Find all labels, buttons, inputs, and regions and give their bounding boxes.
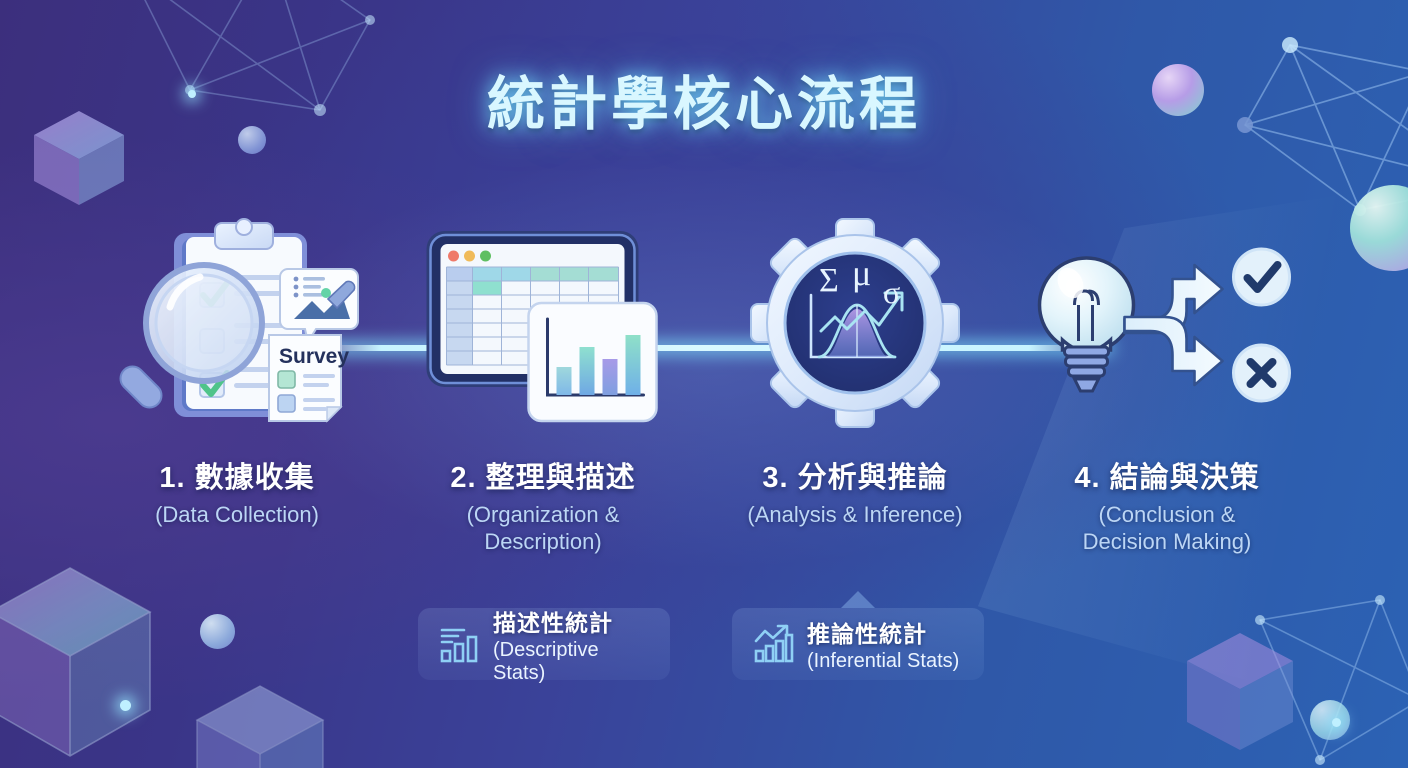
page-title: 統計學核心流程 bbox=[0, 57, 1408, 141]
step-2-organization-description[interactable]: 2. 整理與描述 (Organization & Description) bbox=[378, 215, 708, 556]
step-2-title: 2. 整理與描述 bbox=[378, 454, 708, 496]
glow-dot-cube-left bbox=[120, 700, 131, 711]
step-3-artwork: Σ μ σ bbox=[690, 215, 1020, 440]
step-2-artwork bbox=[378, 215, 708, 440]
sphere-decoration-e bbox=[1310, 700, 1350, 740]
infographic-canvas: 統計學核心流程 bbox=[0, 0, 1408, 768]
badge-inferential-label-en: (Inferential Stats) bbox=[807, 650, 959, 673]
mu-symbol: μ bbox=[852, 253, 871, 293]
badge-descriptive-text: 描述性統計 (Descriptive Stats) bbox=[493, 604, 650, 685]
step-4-subtitle-line1: (Conclusion & bbox=[1099, 502, 1236, 527]
step-4-artwork bbox=[1002, 215, 1332, 440]
clipboard-magnifier-survey-icon: Survey bbox=[112, 215, 362, 440]
step-4-conclusion-decision[interactable]: 4. 結論與決策 (Conclusion & Decision Making) bbox=[1002, 215, 1332, 556]
step-3-title: 3. 分析與推論 bbox=[690, 454, 1020, 496]
step-3-subtitle: (Analysis & Inference) bbox=[690, 502, 1020, 529]
step-1-subtitle: (Data Collection) bbox=[72, 502, 402, 529]
sigma-sum-symbol: Σ bbox=[819, 262, 839, 299]
x-circle-icon bbox=[1234, 345, 1290, 401]
step-4-title: 4. 結論與決策 bbox=[1002, 454, 1332, 496]
window-controls-dots bbox=[448, 251, 491, 262]
branching-arrows-icon bbox=[1125, 265, 1223, 385]
cube-decoration-bottom-right bbox=[1185, 628, 1300, 758]
lightbulb-icon bbox=[1040, 258, 1134, 391]
badge-descriptive-label-en: (Descriptive Stats) bbox=[493, 639, 650, 685]
process-steps: Survey 1. 數據收集 (Data bbox=[0, 215, 1408, 605]
badge-descriptive-stats[interactable]: 描述性統計 (Descriptive Stats) bbox=[418, 608, 670, 680]
step-1-title: 1. 數據收集 bbox=[72, 454, 402, 496]
cube-decoration-bottom-center-left bbox=[195, 680, 335, 768]
descriptive-bars-icon bbox=[438, 623, 480, 665]
sigma-symbol: σ bbox=[883, 274, 900, 310]
step-2-subtitle: (Organization & Description) bbox=[378, 502, 708, 556]
survey-label: Survey bbox=[279, 345, 349, 368]
step-4-subtitle-line2: Decision Making) bbox=[1083, 529, 1252, 554]
step-2-subtitle-line1: (Organization & bbox=[467, 502, 620, 527]
step-2-subtitle-line2: Description) bbox=[484, 529, 601, 554]
badge-descriptive-label-cn: 描述性統計 bbox=[493, 604, 650, 638]
step-3-analysis-inference[interactable]: Σ μ σ 3. 分析與推論 (Analysis & Inference) bbox=[690, 215, 1020, 529]
badge-inferential-text: 推論性統計 (Inferential Stats) bbox=[807, 615, 959, 673]
lightbulb-branch-decision-icon bbox=[1035, 235, 1300, 425]
badge-caret-pointer bbox=[841, 591, 875, 608]
survey-document-icon: Survey bbox=[269, 335, 349, 421]
spreadsheet-barchart-icon bbox=[421, 225, 666, 430]
check-circle-icon bbox=[1234, 249, 1290, 305]
sphere-decoration-d bbox=[200, 614, 235, 649]
step-1-data-collection[interactable]: Survey 1. 數據收集 (Data bbox=[72, 215, 402, 529]
step-4-subtitle: (Conclusion & Decision Making) bbox=[1002, 502, 1332, 556]
network-graph-bottom-right bbox=[1230, 590, 1408, 768]
badge-inferential-stats[interactable]: 推論性統計 (Inferential Stats) bbox=[732, 608, 984, 680]
barchart-card bbox=[529, 303, 657, 421]
inferential-trend-icon bbox=[752, 623, 794, 665]
gear-bellcurve-icon: Σ μ σ bbox=[735, 215, 975, 435]
badge-inferential-label-cn: 推論性統計 bbox=[807, 615, 959, 649]
glow-dot-bottom-right bbox=[1332, 718, 1341, 727]
step-1-artwork: Survey bbox=[72, 215, 402, 440]
